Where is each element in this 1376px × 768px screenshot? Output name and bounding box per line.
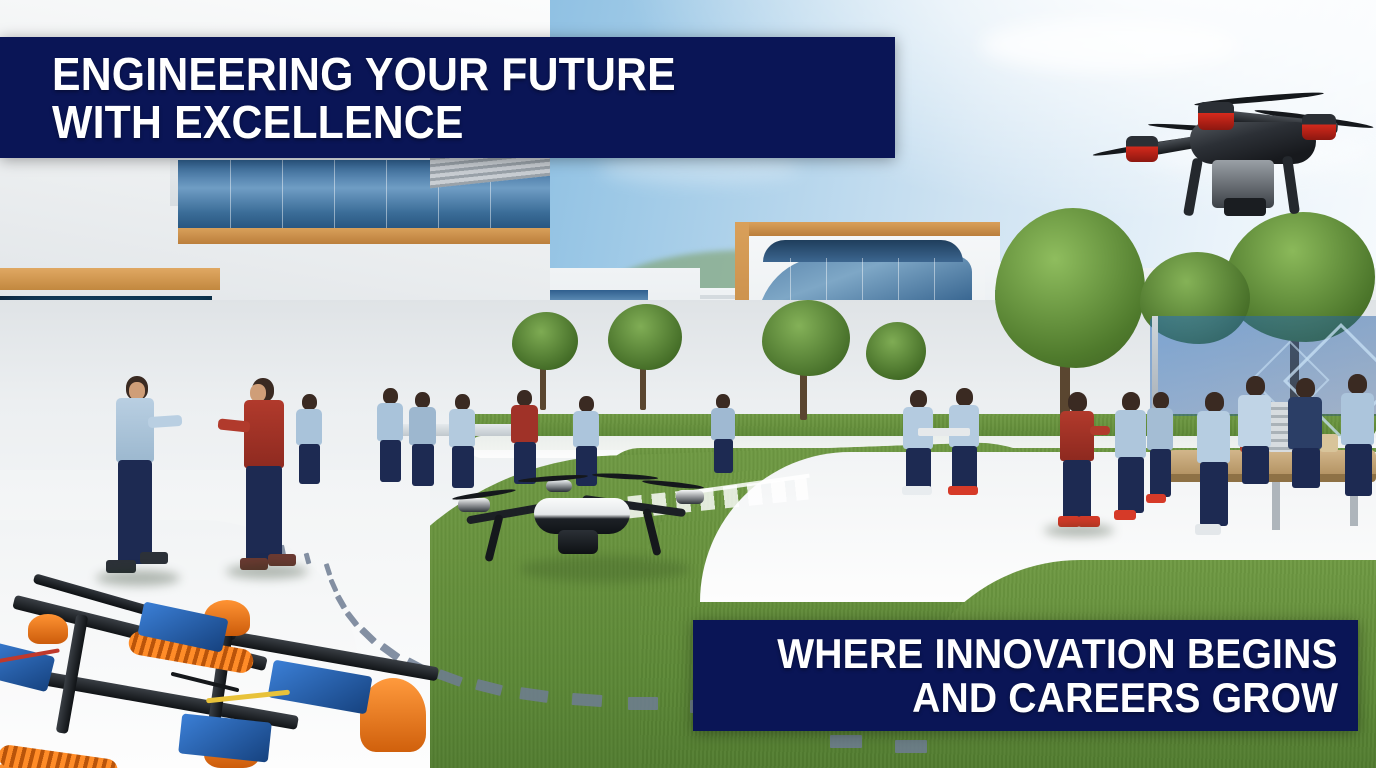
legs <box>1292 448 1320 488</box>
flying-drone-motor-3 <box>1302 114 1336 140</box>
legs <box>118 460 152 564</box>
foreground-drone-frame <box>0 596 450 768</box>
cloud-1 <box>980 18 1240 72</box>
drone-motor-fr <box>676 490 704 504</box>
head <box>415 392 430 408</box>
head <box>455 394 470 410</box>
drone-body <box>534 498 630 534</box>
shadow-person-red-left <box>226 564 308 579</box>
legs <box>1118 457 1144 513</box>
legs <box>714 439 733 473</box>
head <box>910 390 927 408</box>
head <box>956 388 973 406</box>
person-bg-1 <box>290 394 330 486</box>
person-red-left <box>234 378 296 576</box>
drone-leg-right <box>642 508 661 557</box>
head <box>1122 392 1140 411</box>
lab-soffit <box>0 268 220 290</box>
headline-line-1: ENGINEERING YOUR FUTURE <box>52 50 836 98</box>
shoe <box>902 486 932 495</box>
head <box>1246 376 1265 396</box>
torso <box>949 405 979 447</box>
flying-drone-camera <box>1224 198 1266 216</box>
fg-heatsink-2 <box>0 744 119 768</box>
fg-pcb-blue-4 <box>0 640 55 692</box>
legs <box>380 440 401 482</box>
flying-drone-leg-left <box>1183 158 1203 217</box>
tagline-banner: WHERE INNOVATION BEGINS AND CAREERS GROW <box>693 620 1358 731</box>
head <box>716 394 730 409</box>
fg-pcb-blue-3 <box>178 713 272 762</box>
person-right-far <box>1144 392 1178 504</box>
ground-mark-11 <box>572 693 603 707</box>
ground-mark-15 <box>895 740 927 753</box>
flying-drone-motor-2 <box>1126 136 1158 162</box>
torso <box>1341 393 1374 445</box>
lab-mullion-3 <box>334 160 335 230</box>
arm <box>148 415 183 428</box>
person-red-right <box>1052 392 1104 530</box>
flying-drone-leg-right <box>1282 156 1300 215</box>
shoe <box>1114 510 1136 520</box>
legs <box>412 444 434 486</box>
person-center-a <box>898 390 942 494</box>
shoe <box>1195 524 1221 535</box>
shoe <box>948 486 978 495</box>
tree-7 <box>866 322 926 380</box>
legs <box>1063 460 1091 520</box>
lab-wood-fascia <box>178 228 550 244</box>
lab-mullion-2 <box>282 160 283 230</box>
torso <box>449 409 475 447</box>
shadow-person-red-right <box>1044 524 1114 537</box>
legs <box>1242 446 1269 484</box>
torso <box>116 398 154 462</box>
ground-mark-12 <box>628 697 658 710</box>
tagline-line-1: WHERE INNOVATION BEGINS <box>777 632 1338 676</box>
person-right-blue-4 <box>1336 374 1376 502</box>
torso <box>1147 408 1173 450</box>
legs <box>906 448 931 490</box>
torso <box>573 411 599 447</box>
tree-5 <box>608 304 682 370</box>
torso <box>711 408 735 440</box>
person-right-blue-3 <box>1232 376 1280 486</box>
fg-pcb-blue-2 <box>267 660 372 715</box>
headline-line-2: WITH EXCELLENCE <box>52 98 836 146</box>
legs <box>1345 444 1372 496</box>
torso <box>1238 395 1271 447</box>
shoe-right <box>140 552 168 564</box>
drone-propeller-2 <box>642 479 704 490</box>
shadow-person-blue-left <box>96 570 180 586</box>
head <box>1153 392 1169 409</box>
head <box>1348 374 1367 394</box>
drone-propeller-4 <box>592 472 658 480</box>
head <box>1296 378 1315 398</box>
legs <box>1150 449 1171 497</box>
curved-tower-glass-band <box>763 240 963 262</box>
center-pair-tray <box>918 428 970 436</box>
grounded-drone <box>452 468 702 568</box>
headline-banner: ENGINEERING YOUR FUTURE WITH EXCELLENCE <box>0 37 895 158</box>
person-bg-3 <box>404 392 444 488</box>
fg-motor-orange-1 <box>28 614 68 644</box>
curved-tower-frame-top <box>735 222 1000 236</box>
head <box>302 394 317 410</box>
torso <box>409 407 436 445</box>
legs <box>952 446 977 490</box>
tree-4 <box>762 300 850 376</box>
tree-6 <box>512 312 578 370</box>
legs <box>1200 462 1228 526</box>
torso <box>1115 410 1146 458</box>
drone-motor-fl <box>458 498 490 512</box>
torso <box>511 405 538 443</box>
head <box>517 390 532 406</box>
tagline-line-2: AND CAREERS GROW <box>912 676 1338 720</box>
legs <box>299 444 320 484</box>
flying-drone-motor-1 <box>1198 102 1234 130</box>
campus-hero-image: SLDT futurese ROMBGUSTEEMODEN ISO CEFI C… <box>0 0 1376 768</box>
person-blue-left <box>104 376 166 584</box>
person-center-b <box>944 388 988 494</box>
torso <box>296 409 322 445</box>
ground-mark-14 <box>830 735 862 748</box>
head <box>383 388 398 404</box>
lab-mullion-1 <box>230 160 231 230</box>
flying-drone <box>1086 78 1366 218</box>
legs <box>246 466 282 562</box>
torso <box>1060 411 1094 461</box>
torso <box>244 400 284 468</box>
lab-mullion-4 <box>386 160 387 230</box>
person-right-navy <box>1282 378 1330 490</box>
arm <box>1090 426 1110 435</box>
torso <box>1197 411 1230 463</box>
workbench-leg-1 <box>1272 482 1280 530</box>
head <box>579 396 594 412</box>
person-bg-7 <box>706 394 742 474</box>
fg-wire-black <box>171 672 240 693</box>
torso <box>377 403 403 441</box>
drone-motor-bl <box>546 480 572 492</box>
head <box>1205 392 1224 412</box>
torso <box>1288 397 1322 449</box>
shoe <box>1146 494 1166 503</box>
drone-camera-gimbal <box>558 530 598 554</box>
head <box>1068 392 1087 412</box>
